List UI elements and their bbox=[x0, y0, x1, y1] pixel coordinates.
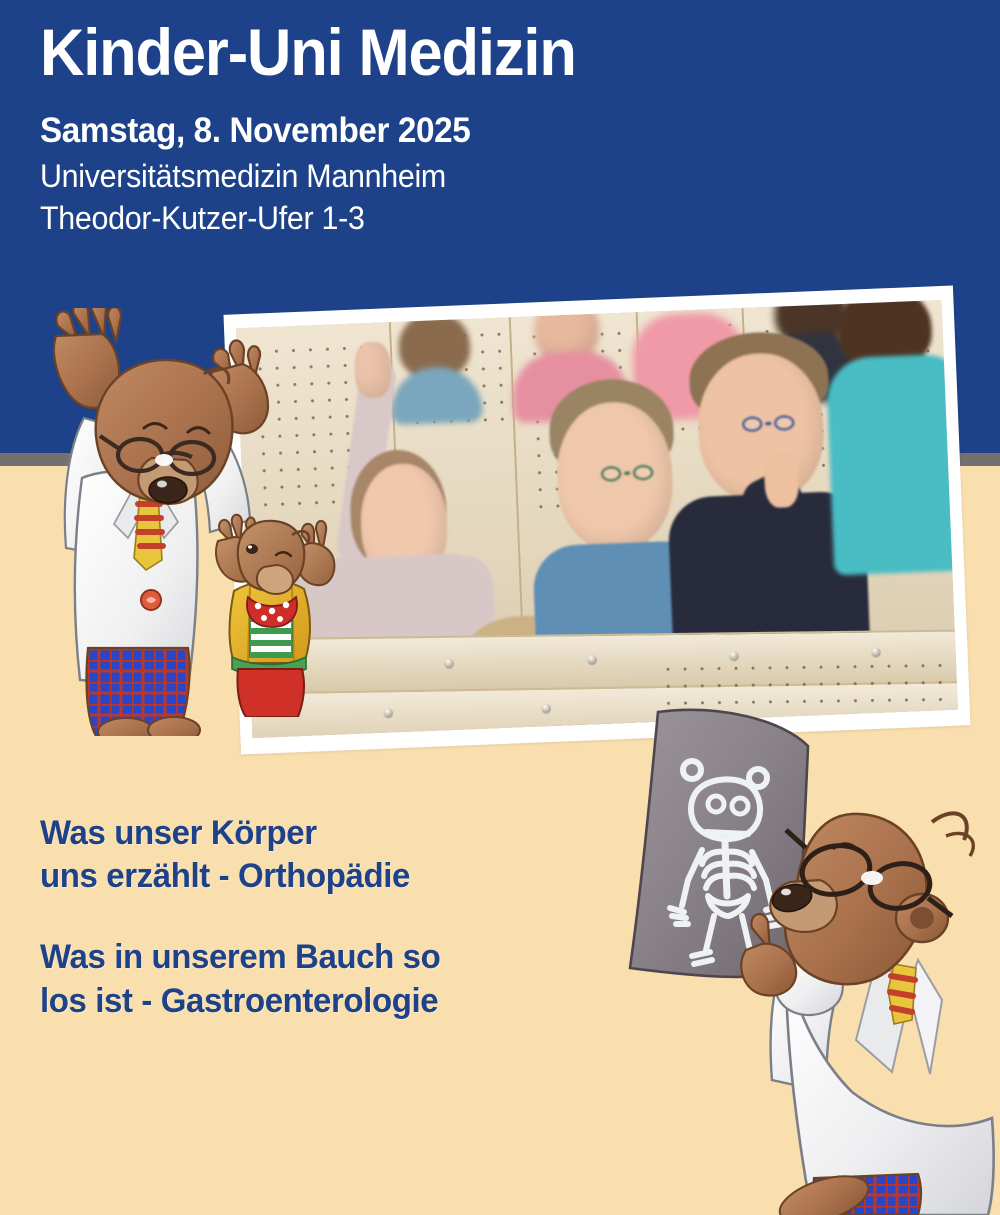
doctor-bear-xray bbox=[600, 700, 1000, 1215]
topic-orthopaedie: Was unser Körper uns erzählt - Orthopädi… bbox=[40, 812, 564, 898]
header-text-block: Kinder-Uni Medizin Samstag, 8. November … bbox=[40, 18, 820, 240]
page-title: Kinder-Uni Medizin bbox=[40, 18, 765, 88]
xray-sheet-icon bbox=[630, 710, 808, 977]
child-bear-small bbox=[206, 505, 336, 717]
topic-1-line-1: Was unser Körper bbox=[40, 812, 564, 855]
topics-block: Was unser Körper uns erzählt - Orthopädi… bbox=[40, 812, 580, 1023]
topic-2-line-2: los ist - Gastroenterologie bbox=[40, 980, 564, 1023]
event-address: Theodor-Kutzer-Ufer 1-3 bbox=[40, 197, 781, 239]
topic-gastroenterologie: Was in unserem Bauch so los ist - Gastro… bbox=[40, 936, 564, 1022]
event-date: Samstag, 8. November 2025 bbox=[40, 110, 781, 151]
photo-child-teal-sweater bbox=[828, 300, 958, 608]
event-venue: Universitätsmedizin Mannheim bbox=[40, 155, 781, 197]
lecture-hall-children-photo bbox=[236, 300, 958, 738]
poster-canvas: Kinder-Uni Medizin Samstag, 8. November … bbox=[0, 0, 1000, 1215]
topic-1-line-2: uns erzählt - Orthopädie bbox=[40, 855, 564, 898]
topic-2-line-1: Was in unserem Bauch so bbox=[40, 936, 564, 979]
